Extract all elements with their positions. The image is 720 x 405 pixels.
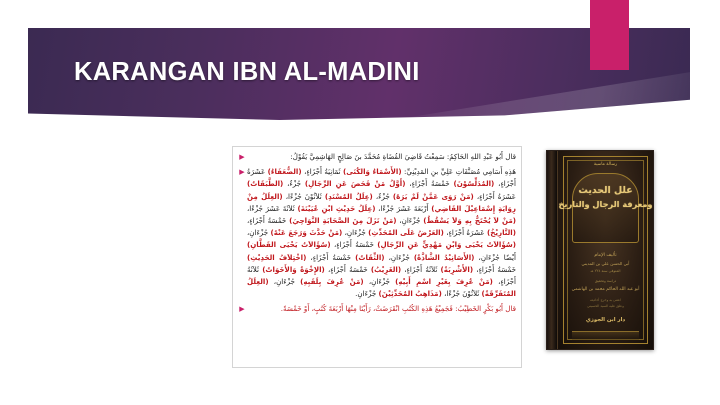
text-run: جُزْءَانِ،: [397, 216, 424, 225]
text-run: ثَلاَثُوْنَ جُزْءًا،: [283, 192, 325, 201]
book-title-line-1: علل الحديث: [558, 185, 653, 196]
text-run: جُزْءٌ،: [283, 179, 305, 188]
bullet-triangle-icon: ▶: [237, 151, 247, 161]
list-item: ▶ قال أَبُو بَكْرٍ الخَطِيْبُ: فَجَمِيْع…: [237, 303, 516, 315]
text-run: هَذِهِ أَسَامِي مُصَنَّفَاتِ عَلِيِّ بنِ…: [402, 167, 516, 176]
text-run: جُزْءَانِ،: [269, 277, 301, 286]
bullet-text: هَذِهِ أَسَامِي مُصَنَّفَاتِ عَلِيِّ بنِ…: [247, 166, 516, 300]
text-run: خَمْسَةُ أَجْزَاءٍ،: [405, 179, 453, 188]
highlighted-term: (اخْتِلاَفُ الحَدِيْثِ): [247, 253, 306, 262]
text-run: أَيْضًا جُزْءَانِ،: [474, 253, 516, 262]
book-cover-image: رسالة ماسية علل الحديث ومعرفة الرجال وال…: [546, 150, 654, 350]
highlighted-term: (مَنْ رَوَى عَمَّنْ لَمْ يَرَهُ): [393, 192, 474, 201]
text-run: خَمْسَةُ أَجْزَاءٍ،: [306, 253, 355, 262]
highlighted-term: (الأَسْمَاءُ وَالكُنَى): [343, 167, 402, 176]
highlighted-term: (الأَسَانِيْدُ الشَّاذَّةُ): [414, 253, 475, 262]
text-run: ثَلاَثَةَ عَشَرَ جُزْءًا،: [247, 204, 297, 213]
text-run: جُزْءَانِ،: [342, 228, 368, 237]
book-publisher: دار ابن الجوزي: [558, 317, 653, 323]
text-run: خَمْسَةُ أَجْزَاءٍ،: [325, 265, 371, 274]
text-run: ثَمَانِيَةُ أَجْزَاءٍ،: [302, 167, 343, 176]
book-author-label: تأليف الإمام: [558, 253, 653, 258]
text-run: جُزْءَانِ،: [385, 253, 414, 262]
text-run: جُزْءَانِ،: [247, 228, 270, 237]
highlighted-term: (سُؤَالاَتُ يَحْيَى القَطَّانِ): [247, 240, 331, 249]
highlighted-term: (الضُّعَفَاءُ): [268, 167, 302, 176]
text-run: جُزْءَانِ.: [355, 289, 378, 298]
highlighted-term: (مَنْ حَدَّثَ وَرَجَعَ عَنْهُ): [270, 228, 342, 237]
content-textbox: ▶ قال أَبُو عَبْدِ اللهِ الحَاكِمُ: سَمِ…: [232, 146, 522, 368]
text-run: عَشَرَةُ أَجْزَاءٍ،: [444, 228, 487, 237]
book-badge: رسالة ماسية: [594, 162, 617, 167]
highlighted-term: (مَنْ لاَ يُحْتَجُّ بِهِ وَلاَ يَسْقُطُ): [423, 216, 516, 225]
text-run: جُزْءَانِ،: [364, 277, 396, 286]
book-bottom-ornament: [572, 331, 639, 340]
slide-canvas: KARANGAN IBN AL-MADINI ▶ قال أَبُو عَبْد…: [0, 0, 720, 405]
bullet-text: قال أَبُو عَبْدِ اللهِ الحَاكِمُ: سَمِعْ…: [247, 151, 516, 163]
highlighted-term: (مَنْ عُرِفَ بِغَيْرِ اسْمِ أَبِيْهِ): [395, 277, 493, 286]
highlighted-term: (مَذَاهِبُ المُحَدِّثِيْنَ): [379, 289, 442, 298]
highlighted-term: (العَرْضُ عَلَى المُحَدِّثِ): [368, 228, 444, 237]
highlighted-term: (مَنْ نَزَلَ مِنَ الصَّحَابَةِ النَّوَاح…: [289, 216, 396, 225]
bullet-text: قال أَبُو بَكْرٍ الخَطِيْبُ: فَجَمِيْعُ …: [247, 303, 516, 315]
text-run: قال أَبُو عَبْدِ اللهِ الحَاكِمُ: سَمِعْ…: [290, 152, 516, 161]
book-note-2: وعلق عليه السيد الحسيني: [558, 304, 653, 308]
highlighted-term: (عِلَلُ حَدِيْثِ ابْنِ عُيَيْنَةَ): [297, 204, 375, 213]
highlighted-term: (المُدَلِّسُوْنَ): [453, 179, 494, 188]
text-run: خَمْسَةُ أَجْزَاءٍ،: [331, 240, 378, 249]
text-run: ثَلاَثَةُ أَجْزَاءٍ،: [401, 265, 440, 274]
list-item: ▶ هَذِهِ أَسَامِي مُصَنَّفَاتِ عَلِيِّ ب…: [237, 166, 516, 300]
bullet-triangle-icon: ▶: [237, 303, 247, 313]
list-item: ▶ قال أَبُو عَبْدِ اللهِ الحَاكِمُ: سَمِ…: [237, 151, 516, 163]
text-run: ثَلاَثُوْنَ جُزْءًا،: [442, 289, 482, 298]
book-note-1: اعتنى به وخرج أحاديثه: [558, 298, 653, 302]
highlighted-term: (التَّارِيْخُ): [487, 228, 516, 237]
bullet-triangle-icon: ▶: [237, 166, 247, 176]
text-run: قال أَبُو بَكْرٍ الخَطِيْبُ: فَجَمِيْعُ …: [281, 304, 516, 313]
highlighted-term: (مَنْ عُرِفَ بِلَقَبِهِ): [300, 277, 364, 286]
book-spine: [547, 151, 558, 349]
highlighted-term: (الطَّبَقَاتُ): [247, 179, 283, 188]
highlighted-term: (الأَشْرِبَةُ): [441, 265, 474, 274]
book-author-name: أبي الحسن علي بن المديني: [558, 261, 653, 266]
highlighted-term: (الإِخْوَةُ وَالأَخَوَاتُ): [262, 265, 325, 274]
page-title: KARANGAN IBN AL-MADINI: [74, 58, 420, 87]
text-run: عَشَرَةُ أَجْزَاءٍ،: [474, 192, 516, 201]
highlighted-term: (عِلَلُ المُسْنَدِ): [325, 192, 373, 201]
text-run: خَمْسَةُ أَجْزَاءٍ،: [247, 216, 289, 225]
highlighted-term: (الثِّقَاتُ): [355, 253, 384, 262]
highlighted-term: (الغَرِيْبُ): [371, 265, 401, 274]
book-editor-name: أبو عبد الله الحاكم محمد بن الهاشمي: [558, 287, 653, 292]
accent-bar: [590, 0, 629, 70]
book-title-line-2: ومعرفة الرجال والتاريخ: [558, 199, 653, 209]
book-front-face: رسالة ماسية علل الحديث ومعرفة الرجال وال…: [558, 151, 653, 349]
book-editor-label: دراسة وتحقيق: [558, 279, 653, 283]
text-run: خَمْسَةُ أَجْزَاءٍ،: [473, 265, 516, 274]
text-run: أَرْبَعَةَ عَشَرَ جُزْءًا،: [375, 204, 431, 213]
highlighted-term: (سُؤَالاَتُ يَحْيَى وَابْنِ مَهْدِيٍّ عَ…: [377, 240, 516, 249]
text-run: جُزْءٌ،: [373, 192, 393, 201]
highlighted-term: (أَوَّلُ مَنْ فَحَصَ عَنِ الرِّجَالِ): [305, 179, 406, 188]
book-author-death: المتوفى سنة ٢٣٤ هـ: [558, 269, 653, 273]
